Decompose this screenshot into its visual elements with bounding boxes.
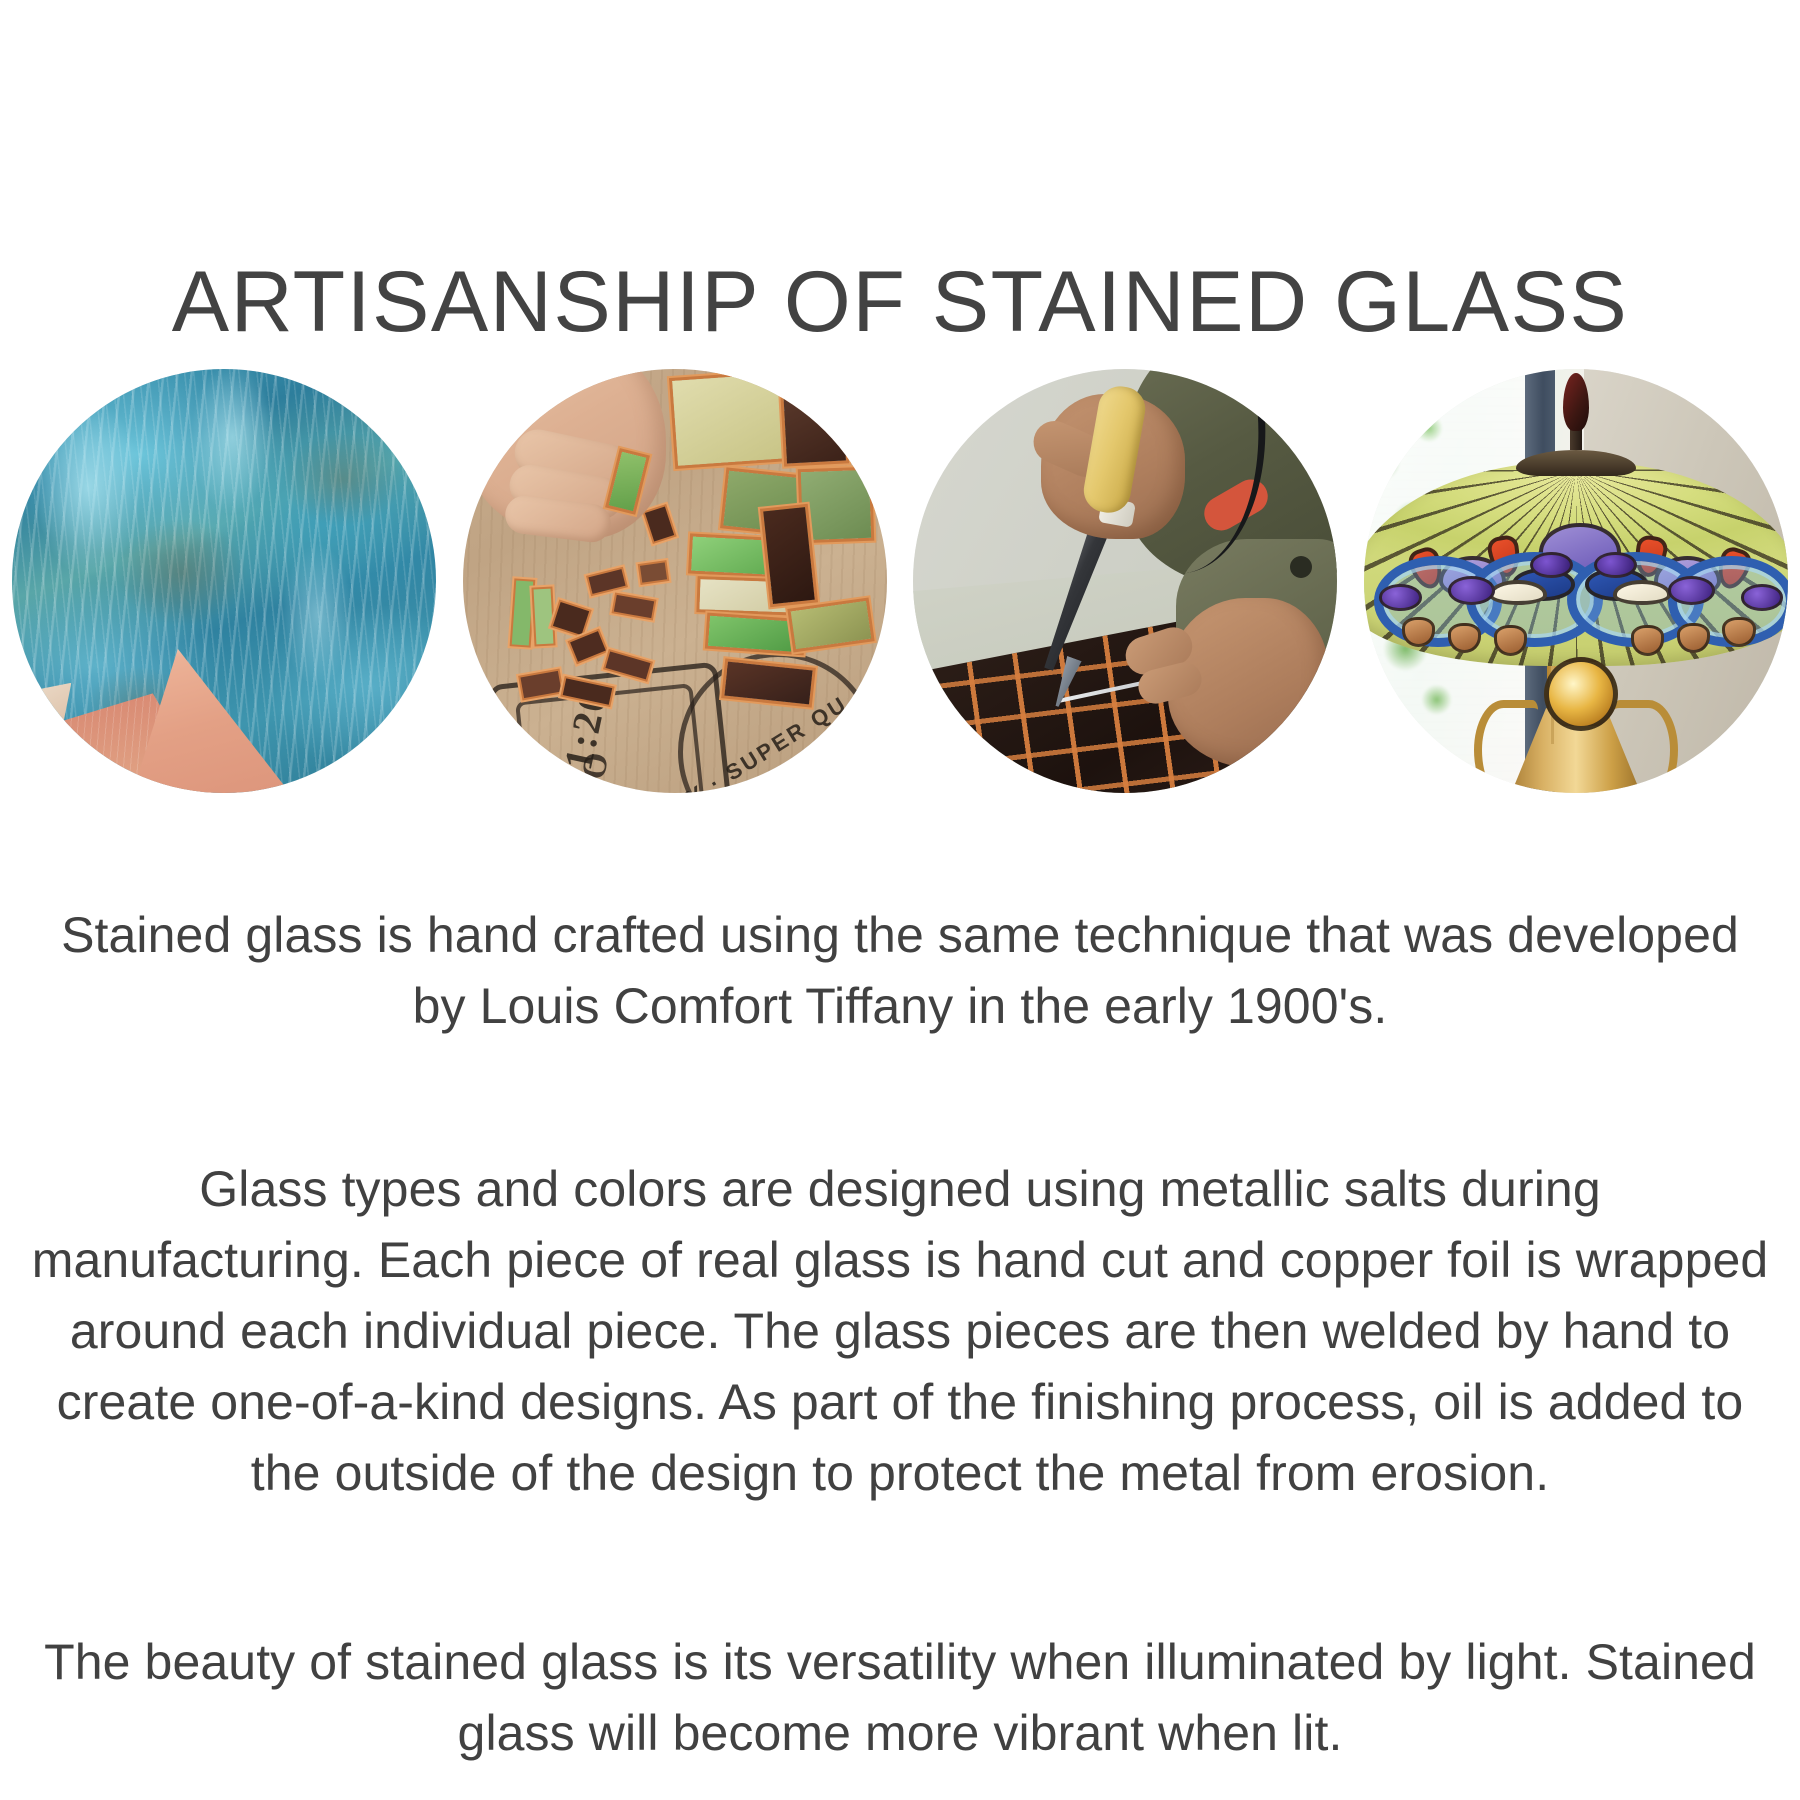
shade-purple-jewel xyxy=(1668,576,1715,604)
soldering-photo xyxy=(913,369,1337,793)
tiffany-lamp-photo xyxy=(1364,369,1788,793)
foiled-glass-tile xyxy=(672,374,788,466)
paragraph-beauty: The beauty of stained glass is its versa… xyxy=(10,1627,1790,1769)
paragraph-process: Glass types and colors are designed usin… xyxy=(30,1154,1770,1509)
shade-purple-jewel xyxy=(1379,584,1422,610)
shade-white-oval xyxy=(1613,580,1671,604)
shade-purple-jewel xyxy=(1594,552,1637,578)
copper-foiling-photo: 9001:20 ISO TY · SUPER QU xyxy=(463,369,887,793)
gallery-image-copper-foiling: 9001:20 ISO TY · SUPER QU xyxy=(463,369,887,793)
gallery-image-soldering xyxy=(913,369,1337,793)
shade-purple-jewel xyxy=(1741,584,1784,610)
glass-sheet-photo xyxy=(12,369,436,793)
paragraph-intro: Stained glass is hand crafted using the … xyxy=(50,900,1750,1042)
gallery-image-glass-sheet xyxy=(12,369,436,793)
glass-shard xyxy=(533,589,553,645)
shade-center-jewel xyxy=(1544,657,1618,731)
shade-white-oval xyxy=(1489,580,1547,604)
shade-amber-drop xyxy=(1494,625,1527,655)
page-title: ARTISANSHIP OF STAINED GLASS xyxy=(0,254,1800,350)
body-copy: Stained glass is hand crafted using the … xyxy=(0,900,1800,1769)
infographic-page: ARTISANSHIP OF STAINED GLASS 9001:20 ISO xyxy=(0,0,1800,1800)
gallery-image-tiffany-lamp xyxy=(1364,369,1788,793)
lamp-finial xyxy=(1563,373,1589,431)
jacket-button xyxy=(1290,556,1312,578)
foiled-glass-tile xyxy=(801,470,871,540)
shade-purple-jewel xyxy=(1530,552,1573,578)
stained-glass-shade xyxy=(1364,462,1788,666)
foiled-glass-tile xyxy=(783,384,846,463)
glass-shard xyxy=(640,562,668,582)
shade-purple-jewel xyxy=(1448,576,1495,604)
shade-amber-drop xyxy=(1631,625,1664,655)
photo-gallery: 9001:20 ISO TY · SUPER QU xyxy=(12,368,1788,794)
